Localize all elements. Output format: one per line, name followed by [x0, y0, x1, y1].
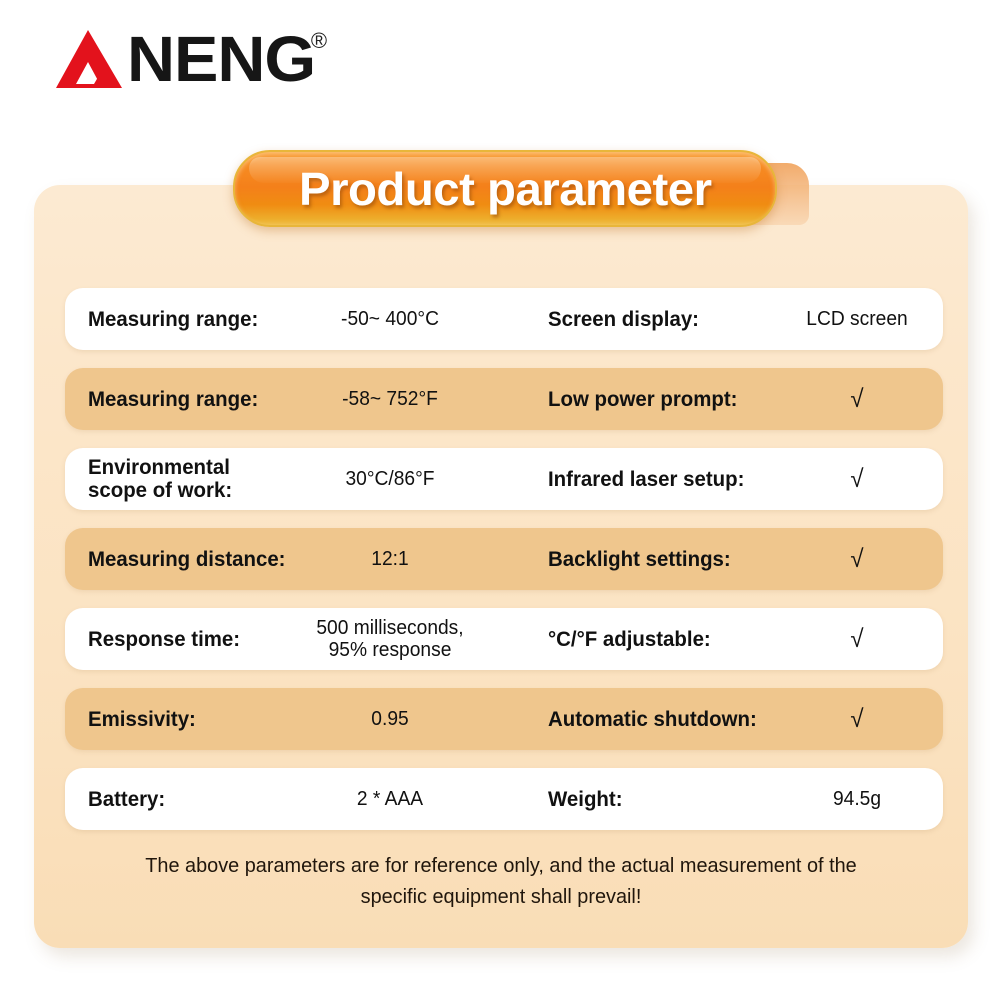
spec-label-left: Measuring distance:	[88, 548, 292, 571]
spec-label-left: Measuring range:	[88, 308, 292, 331]
table-row: Response time: 500 milliseconds, 95% res…	[65, 608, 943, 670]
table-row: Environmental scope of work: 30°C/86°F I…	[65, 448, 943, 510]
spec-label-left: Measuring range:	[88, 388, 292, 411]
spec-value-left: 30°C/86°F	[299, 468, 481, 490]
page-title: Product parameter	[299, 166, 712, 212]
product-parameter-card: Product parameter Measuring range: -50~ …	[34, 185, 968, 948]
spec-label-right: Automatic shutdown:	[548, 708, 786, 731]
spec-label-left: Response time:	[88, 628, 292, 651]
checkmark-icon: √	[781, 388, 933, 410]
table-row: Measuring range: -50~ 400°C Screen displ…	[65, 288, 943, 350]
spec-label-right: Screen display:	[548, 308, 786, 331]
disclaimer-note: The above parameters are for reference o…	[140, 850, 862, 912]
spec-value-left: -50~ 400°C	[299, 308, 481, 330]
spec-label-right: °C/°F adjustable:	[548, 628, 786, 651]
table-row: Measuring range: -58~ 752°F Low power pr…	[65, 368, 943, 430]
spec-value-right: LCD screen	[781, 308, 933, 330]
checkmark-icon: √	[781, 468, 933, 490]
spec-label-right: Backlight settings:	[548, 548, 786, 571]
spec-label-right: Low power prompt:	[548, 388, 786, 411]
spec-label-left: Emissivity:	[88, 708, 292, 731]
checkmark-icon: √	[781, 708, 933, 730]
product-parameter-title-banner: Product parameter	[233, 150, 777, 227]
spec-label-right: Weight:	[548, 788, 786, 811]
table-row: Battery: 2 * AAA Weight: 94.5g	[65, 768, 943, 830]
checkmark-icon: √	[781, 628, 933, 650]
spec-value-left: -58~ 752°F	[299, 388, 481, 410]
spec-value-left: 2 * AAA	[299, 788, 481, 810]
spec-value-left: 12:1	[299, 548, 481, 570]
spec-value-left: 500 milliseconds, 95% response	[299, 617, 481, 661]
spec-label-left: Battery:	[88, 788, 292, 811]
brand-logo: NENG ®	[52, 28, 327, 98]
aneng-a-mark-icon	[52, 28, 126, 90]
brand-wordmark: NENG	[127, 28, 315, 90]
spec-value-left: 0.95	[299, 708, 481, 730]
spec-value-right: 94.5g	[781, 788, 933, 810]
spec-label-right: Infrared laser setup:	[548, 468, 786, 491]
checkmark-icon: √	[781, 548, 933, 570]
spec-label-left: Environmental scope of work:	[88, 456, 292, 502]
table-row: Emissivity: 0.95 Automatic shutdown: √	[65, 688, 943, 750]
spec-table: Measuring range: -50~ 400°C Screen displ…	[65, 288, 943, 848]
table-row: Measuring distance: 12:1 Backlight setti…	[65, 528, 943, 590]
